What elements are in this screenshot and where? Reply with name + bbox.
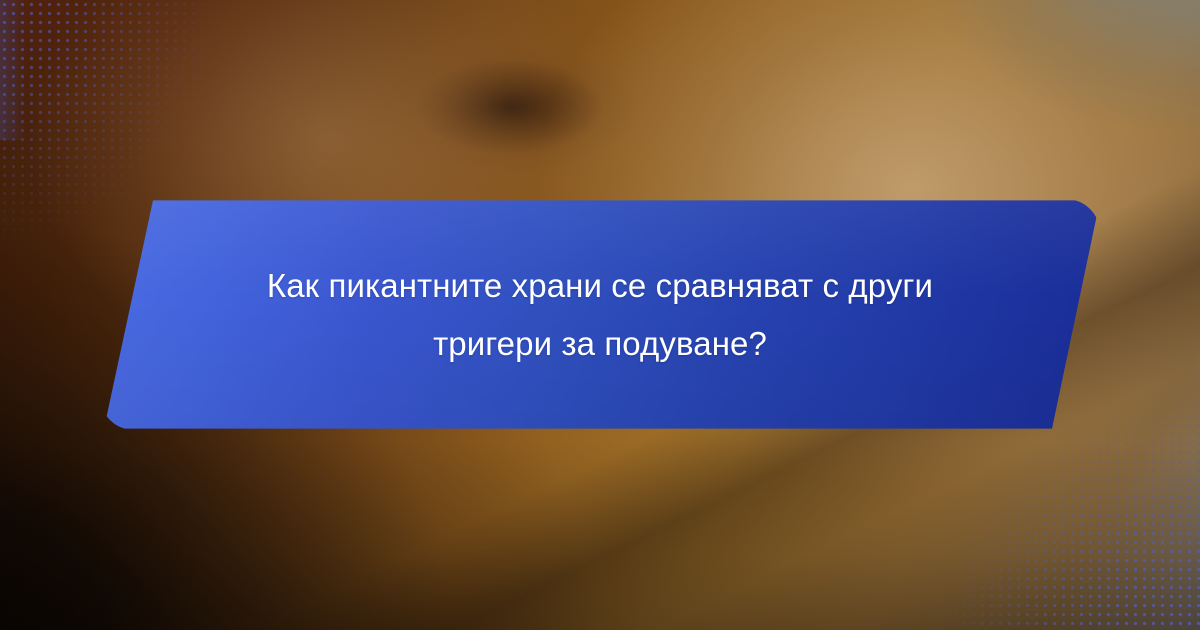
question-text: Как пикантните храни се сравняват с друг…	[210, 199, 990, 430]
question-banner: Как пикантните храни се сравняват с друг…	[100, 199, 1100, 430]
social-card: Как пикантните храни се сравняват с друг…	[0, 0, 1200, 630]
